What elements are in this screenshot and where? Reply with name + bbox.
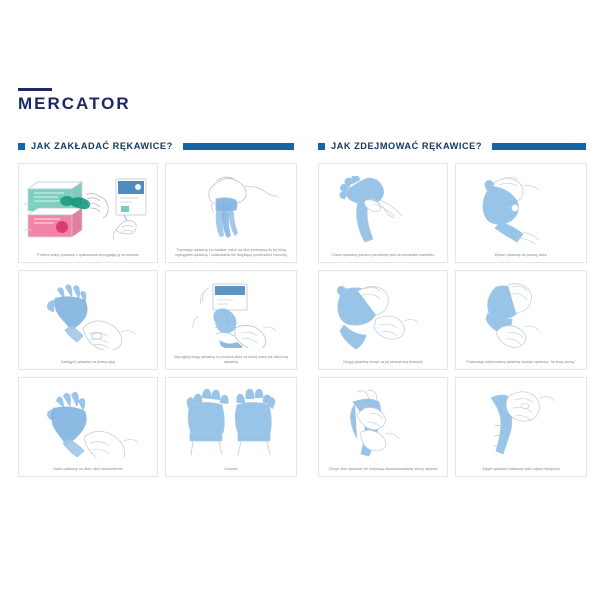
pulling-glove-right-hand-icon: [24, 275, 152, 360]
square-bullet-icon: [18, 143, 25, 150]
turn-glove-inside-out-icon: [461, 275, 581, 360]
step-caption: Trzymając rękawicę za mankiet, nałóż na …: [171, 248, 291, 260]
step-tile: Chwyć rękawicę palcami przeciwnej ręki n…: [318, 163, 448, 263]
grip-cuff-with-opposite-hand-icon: [324, 168, 442, 253]
step-tile: Wyciągnij drugą rękawicę za pomocą dłoni…: [165, 270, 297, 370]
grip-second-glove-outer-edge-icon: [324, 275, 442, 360]
step-tile: Zdjęte rękawice traktować jako odpad med…: [455, 377, 587, 477]
adjusting-glove-on-hand-icon: [24, 382, 152, 467]
brand-name: MERCATOR: [18, 95, 131, 112]
both-gloves-done-icon: [171, 382, 291, 467]
step-caption: Gotowe!: [221, 467, 240, 473]
steps-grid-putting-on: Pobierz jedną rękawicę z opakowania wyci…: [18, 163, 294, 477]
step-tile: Trzymając rękawicę za mankiet, nałóż na …: [165, 163, 297, 263]
square-bullet-icon: [318, 143, 325, 150]
step-caption: Chwyć rękawicę palcami przeciwnej ręki n…: [328, 253, 437, 259]
brand-logo: MERCATOR: [18, 88, 131, 112]
header-bar-decoration: [183, 143, 294, 150]
steps-grid-taking-off: Chwyć rękawicę palcami przeciwnej ręki n…: [318, 163, 586, 477]
step-tile: Naciągnij rękawicę na prawą rękę: [18, 270, 158, 370]
step-caption: Nałóż rękawicę na dłoń i ułóż równomiern…: [50, 467, 125, 473]
slide-glove-to-mid-palm-icon: [461, 168, 581, 253]
step-caption: Wysuń rękawicę do połowy dłoni.: [491, 253, 550, 259]
section-title: JAK ZDEJMOWAĆ RĘKAWICE?: [331, 141, 482, 151]
section-header-putting-on: JAK ZAKŁADAĆ RĘKAWICE?: [18, 138, 294, 154]
step-tile: Chwyć obie rękawice nie dotykając skonta…: [318, 377, 448, 477]
hold-both-gloves-clean-side-icon: [324, 382, 442, 467]
columns-wrapper: JAK ZAKŁADAĆ RĘKAWICE?: [0, 138, 600, 477]
step-tile: Gotowe!: [165, 377, 297, 477]
taking-second-glove-from-dispenser-icon: [171, 275, 291, 355]
step-tile: Pobierz jedną rękawicę z opakowania wyci…: [18, 163, 158, 263]
section-putting-on: JAK ZAKŁADAĆ RĘKAWICE?: [0, 138, 300, 477]
step-caption: Wyciągnij drugą rękawicę za pomocą dłoni…: [171, 355, 291, 367]
step-tile: Podnosząc zdejmowaną rękawicę wywiąż ręk…: [455, 270, 587, 370]
step-caption: Drugą rękawicę chwyć za jej zewnętrzną k…: [340, 360, 425, 366]
step-caption: Pobierz jedną rękawicę z opakowania wyci…: [34, 253, 141, 259]
step-tile: Nałóż rękawicę na dłoń i ułóż równomiern…: [18, 377, 158, 477]
section-header-taking-off: JAK ZDEJMOWAĆ RĘKAWICE?: [318, 138, 586, 154]
step-tile: Wysuń rękawicę do połowy dłoni.: [455, 163, 587, 263]
step-caption: Naciągnij rękawicę na prawą rękę: [58, 360, 118, 366]
step-caption: Zdjęte rękawice traktować jako odpad med…: [479, 467, 563, 473]
step-caption: Podnosząc zdejmowaną rękawicę wywiąż ręk…: [463, 360, 578, 366]
header-bar-decoration: [492, 143, 586, 150]
glove-boxes-dispenser-icon: [24, 168, 152, 253]
section-taking-off: JAK ZDEJMOWAĆ RĘKAWICE?: [300, 138, 600, 477]
hand-holding-glove-icon: [171, 168, 291, 248]
dispose-as-medical-waste-icon: [461, 382, 581, 467]
logo-rule: [18, 88, 52, 91]
infographic-page: MERCATOR JAK ZAKŁADAĆ RĘKAWICE?: [0, 0, 600, 600]
step-caption: Chwyć obie rękawice nie dotykając skonta…: [326, 467, 441, 473]
section-title: JAK ZAKŁADAĆ RĘKAWICE?: [31, 141, 173, 151]
step-tile: Drugą rękawicę chwyć za jej zewnętrzną k…: [318, 270, 448, 370]
